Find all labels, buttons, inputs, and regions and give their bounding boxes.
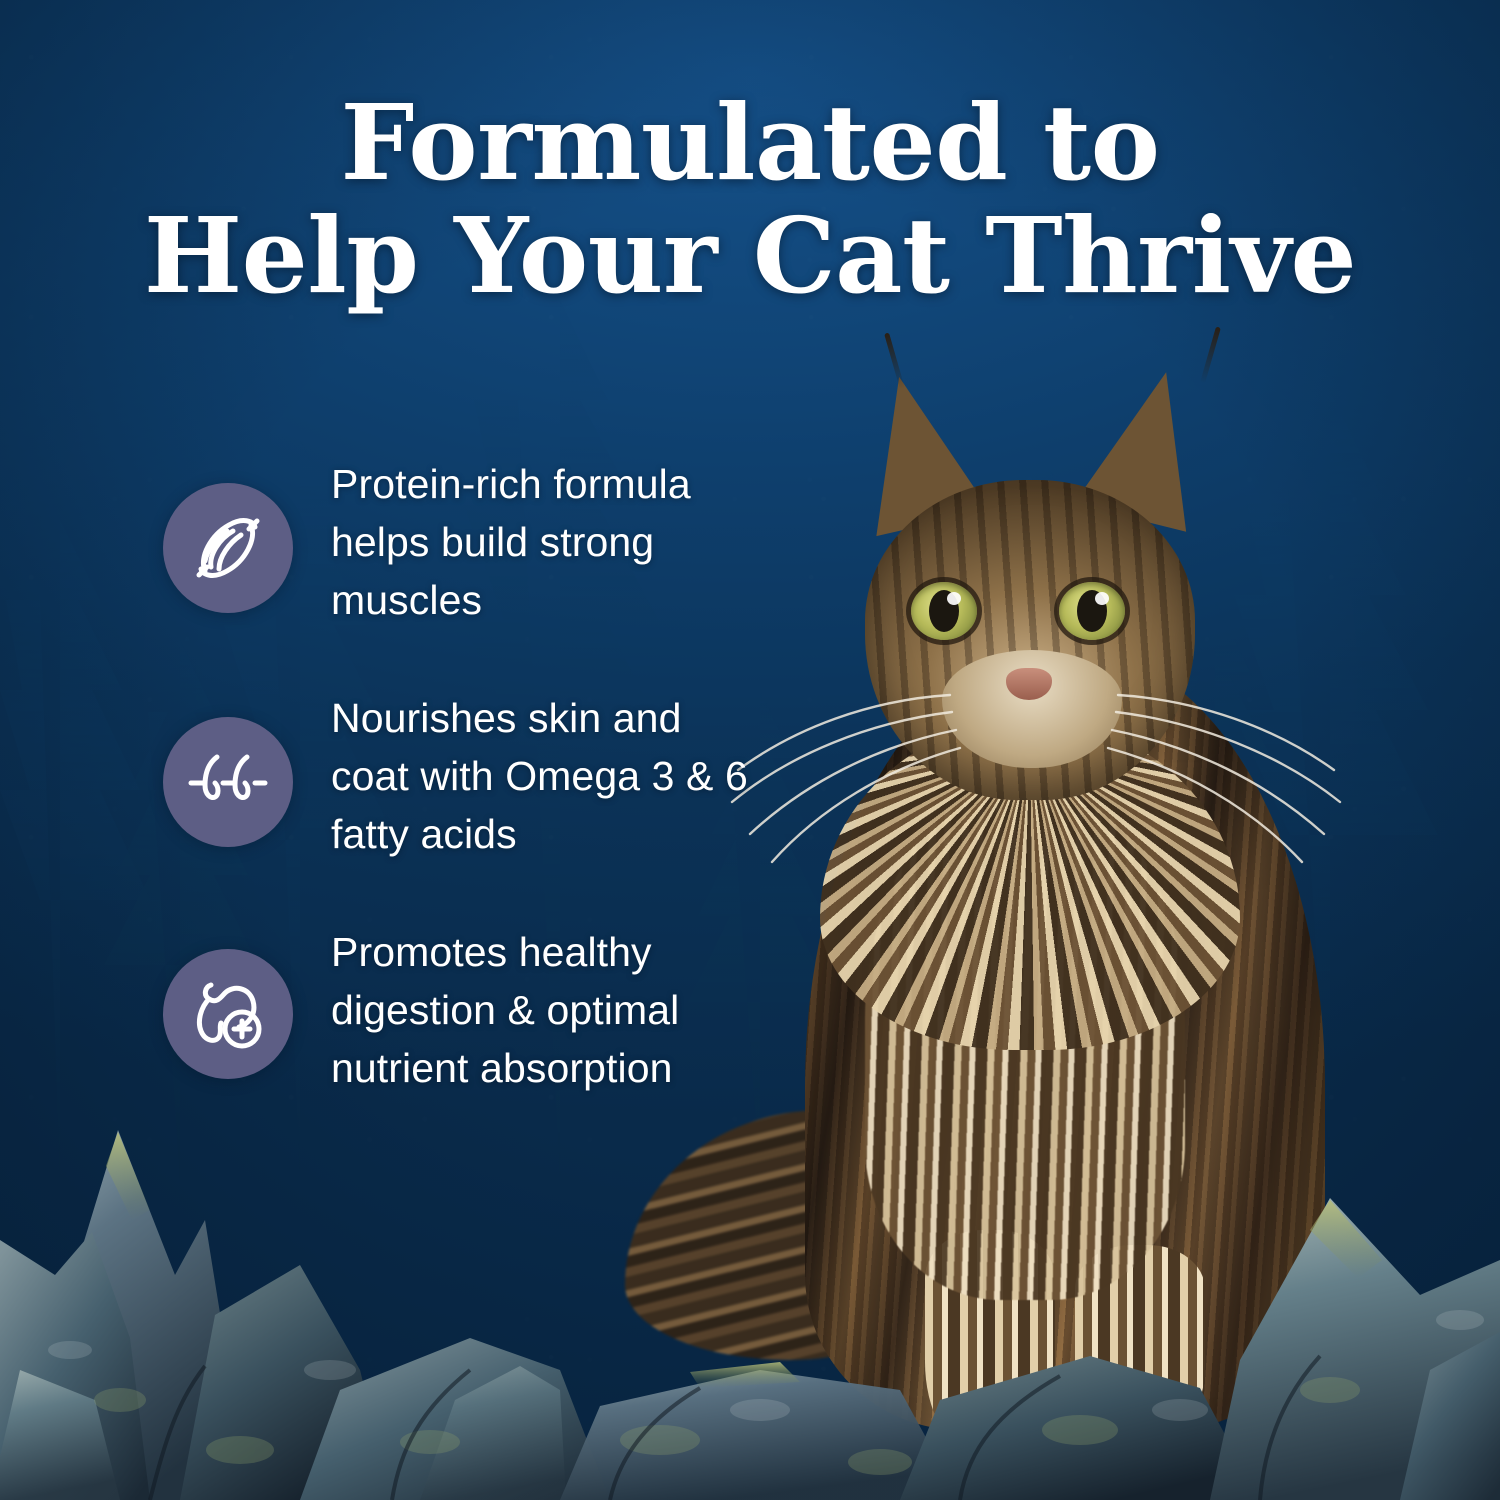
muscle-fiber-icon (163, 483, 293, 613)
stomach-plus-icon (163, 949, 293, 1079)
page-title: Formulated to Help Your Cat Thrive (0, 86, 1500, 312)
headline-line-1: Formulated to (341, 81, 1160, 204)
foreground-rocks (0, 1070, 1500, 1500)
benefit-text: Nourishes skin and coat with Omega 3 & 6… (331, 689, 751, 863)
hair-follicle-icon (163, 717, 293, 847)
benefit-item: Protein-rich formula helps build strong … (163, 455, 783, 629)
marketing-banner: Formulated to Help Your Cat Thrive Prote… (0, 0, 1500, 1500)
benefit-text: Protein-rich formula helps build strong … (331, 455, 751, 629)
headline-line-2: Help Your Cat Thrive (0, 199, 1500, 312)
benefit-list: Protein-rich formula helps build strong … (163, 455, 783, 1097)
benefit-item: Nourishes skin and coat with Omega 3 & 6… (163, 689, 783, 863)
